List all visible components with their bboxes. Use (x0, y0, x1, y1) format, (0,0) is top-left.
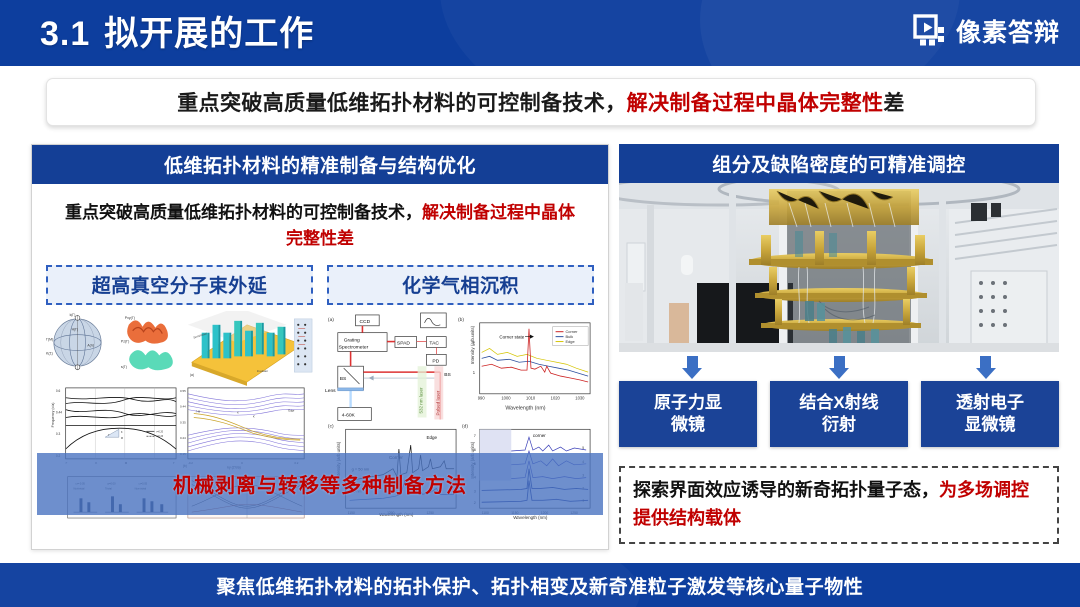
arrow-head (682, 368, 702, 379)
svg-text:s(Γ): s(Γ) (121, 365, 127, 369)
svg-text:990: 990 (478, 395, 486, 400)
headline-part-black-2: 差 (883, 92, 904, 115)
brand-name: 像素答辩 (956, 13, 1060, 49)
svg-text:0.6: 0.6 (56, 389, 61, 393)
svg-text:Edge: Edge (565, 339, 575, 344)
svg-text:K(Σ): K(Σ) (46, 351, 53, 355)
svg-text:H(Γ): H(Γ) (72, 327, 78, 331)
instrument-box-xrd[interactable]: 结合X射线 衍射 (770, 381, 908, 447)
svg-text:Wavelength (nm): Wavelength (nm) (513, 515, 548, 520)
instrument-box-tem[interactable]: 透射电子 显微镜 (921, 381, 1059, 447)
header-decoration-swoosh-2 (440, 0, 960, 66)
method-box-mbe[interactable]: 超高真空分子束外延 (46, 265, 313, 305)
svg-text:Insulator: Insulator (257, 369, 268, 373)
left-panel-header: 低维拓扑材料的精准制备与结构优化 (32, 145, 608, 184)
svg-text:CCD: CCD (359, 319, 370, 325)
svg-text:Pxy(Γ): Pxy(Γ) (125, 316, 135, 320)
dilution-refrigerator-photo (619, 183, 1059, 352)
method-box-mbe-label: 超高真空分子束外延 (92, 271, 268, 298)
instrument-box-xrd-line1: 结合X射线 (799, 392, 878, 414)
arrow-down-afm (619, 356, 766, 380)
slide-header: 3.1拟开展的工作 像素答辩 (0, 0, 1080, 66)
right-panel-note-text: 探索界面效应诱导的新奇拓扑量子态，为多场调控提供结构载体 (633, 477, 1045, 533)
svg-text:Κ: Κ (237, 410, 239, 414)
arrow-head (829, 368, 849, 379)
svg-text:0.24: 0.24 (180, 436, 186, 440)
headline-banner: 重点突破高质量低维拓扑材料的可控制备技术，解决制备过程中晶体完整性差 (46, 78, 1036, 126)
svg-text:0.44: 0.44 (180, 404, 186, 408)
figure-row: Γ(Μ) K(Σ) H(Γ) A(Λ) k(Γ) Pxy(Γ) Pz(Γ) s(… (32, 305, 608, 520)
svg-text:(d): (d) (462, 423, 468, 429)
svg-text:Lens: Lens (325, 388, 336, 394)
svg-text:r=0.20: r=0.20 (156, 430, 163, 433)
instrument-box-afm-line2: 微镜 (671, 414, 705, 436)
left-panel-subtitle: 重点突破高质量低维拓扑材料的可控制备技术，解决制备过程中晶体完整性差 (32, 184, 608, 261)
svg-text:0.44: 0.44 (56, 410, 62, 414)
svg-text:SPAD: SPAD (397, 340, 410, 346)
svg-text:K: K (121, 430, 123, 434)
svg-text:6: 6 (474, 448, 476, 452)
svg-text:532 nm laser: 532 nm laser (419, 387, 424, 414)
left-panel-header-text: 低维拓扑材料的精准制备与结构优化 (164, 151, 476, 178)
svg-text:corner: corner (533, 433, 546, 438)
arrow-down-xrd (766, 356, 913, 380)
instrument-box-afm-line1: 原子力显 (654, 392, 722, 414)
instrument-box-tem-line1: 透射电子 (956, 392, 1024, 414)
svg-text:(c): (c) (328, 423, 334, 429)
svg-text:(b): (b) (458, 317, 464, 323)
left-panel: 低维拓扑材料的精准制备与结构优化 重点突破高质量低维拓扑材料的可控制备技术，解决… (31, 144, 609, 550)
arrow-head (976, 368, 996, 379)
brand-logo: 像素答辩 (913, 13, 1060, 49)
svg-text:Corner state: Corner state (499, 334, 524, 339)
svg-text:0.3: 0.3 (56, 432, 61, 436)
headline-part-black-1: 重点突破高质量低维拓扑材料的可控制备技术， (177, 92, 626, 115)
svg-text:0.55: 0.55 (180, 389, 186, 393)
svg-text:1000: 1000 (501, 395, 511, 400)
note-red-inline: 为 (939, 480, 957, 500)
headline-banner-text: 重点突破高质量低维拓扑材料的可控制备技术，解决制备过程中晶体完整性差 (177, 87, 905, 117)
svg-text:PD: PD (432, 358, 439, 364)
overlay-caption-text: 机械剥离与转移等多种制备方法 (173, 469, 467, 498)
method-box-cvd[interactable]: 化学气相沉积 (327, 265, 594, 305)
arrow-stem (834, 356, 845, 368)
right-panel-header: 组分及缺陷密度的可精准调控 (619, 144, 1059, 183)
note-black: 探索界面效应诱导的新奇拓扑量子态， (633, 480, 939, 500)
svg-text:k(Γ): k(Γ) (70, 313, 76, 317)
instrument-box-afm[interactable]: 原子力显 微镜 (619, 381, 757, 447)
svg-text:5: 5 (582, 446, 584, 450)
svg-text:Edge: Edge (426, 435, 437, 440)
svg-text:TAC: TAC (429, 340, 439, 346)
svg-text:1030: 1030 (575, 395, 585, 400)
svg-text:Pulsed laser: Pulsed laser (435, 390, 440, 415)
arrow-down-tem (912, 356, 1059, 380)
arrow-stem (687, 356, 698, 368)
svg-text:Wavelength (nm): Wavelength (nm) (505, 405, 545, 411)
arrow-stem (980, 356, 991, 368)
svg-text:(a): (a) (190, 373, 194, 377)
page-title: 3.1拟开展的工作 (40, 6, 314, 55)
svg-text:0.35: 0.35 (180, 420, 186, 424)
svg-text:Frequency (c/a): Frequency (c/a) (51, 402, 55, 427)
svg-text:(a): (a) (328, 317, 334, 323)
svg-text:Grating: Grating (344, 337, 360, 343)
headline-part-red: 解决制备过程中晶体完整性 (627, 92, 884, 115)
svg-text:A(Λ): A(Λ) (87, 343, 94, 347)
svg-text:Spectrometer: Spectrometer (339, 344, 369, 350)
method-box-cvd-label: 化学气相沉积 (402, 271, 519, 298)
section-number: 3.1 (40, 15, 90, 53)
play-in-square-icon (913, 14, 947, 48)
left-panel-overlay-caption: 机械剥离与转移等多种制备方法 (37, 453, 603, 515)
instrument-box-xrd-line2: 衍射 (822, 414, 856, 436)
svg-text:BS: BS (340, 376, 347, 382)
right-panel-header-text: 组分及缺陷密度的可精准调控 (712, 150, 966, 177)
arrow-row (619, 356, 1059, 380)
svg-text:7: 7 (474, 434, 476, 438)
left-subtitle-black: 重点突破高质量低维拓扑材料的可控制备技术， (65, 203, 422, 222)
instrument-box-row: 原子力显 微镜 结合X射线 衍射 透射电子 显微镜 (619, 381, 1059, 447)
svg-text:Edge: Edge (288, 408, 295, 412)
svg-text:Γ-Μ: Γ-Μ (196, 409, 200, 413)
svg-text:Γ(Μ): Γ(Μ) (46, 337, 53, 341)
right-panel-note: 探索界面效应诱导的新奇拓扑量子态，为多场调控提供结构载体 (619, 466, 1059, 544)
footer-text: 聚焦低维拓扑材料的拓扑保护、拓扑相变及新奇准粒子激发等核心量子物性 (217, 572, 864, 599)
svg-text:Pz(Γ): Pz(Γ) (121, 339, 129, 343)
method-box-row: 超高真空分子束外延 化学气相沉积 (32, 261, 608, 305)
slide-root: 3.1拟开展的工作 像素答辩 重点突破高质量低维拓扑材料的可控制备技术，解决制备… (0, 0, 1080, 607)
svg-text:r=0.26: r=0.26 (156, 435, 163, 438)
section-title: 拟开展的工作 (104, 15, 314, 53)
svg-text:M: M (121, 436, 123, 440)
instrument-box-tem-line2: 显微镜 (965, 414, 1016, 436)
svg-text:BS: BS (444, 372, 451, 378)
slide-footer: 聚焦低维拓扑材料的拓扑保护、拓扑相变及新奇准粒子激发等核心量子物性 (0, 563, 1080, 607)
svg-text:4-60K: 4-60K (342, 412, 356, 418)
svg-text:1010: 1010 (526, 395, 536, 400)
svg-text:1020: 1020 (551, 395, 561, 400)
